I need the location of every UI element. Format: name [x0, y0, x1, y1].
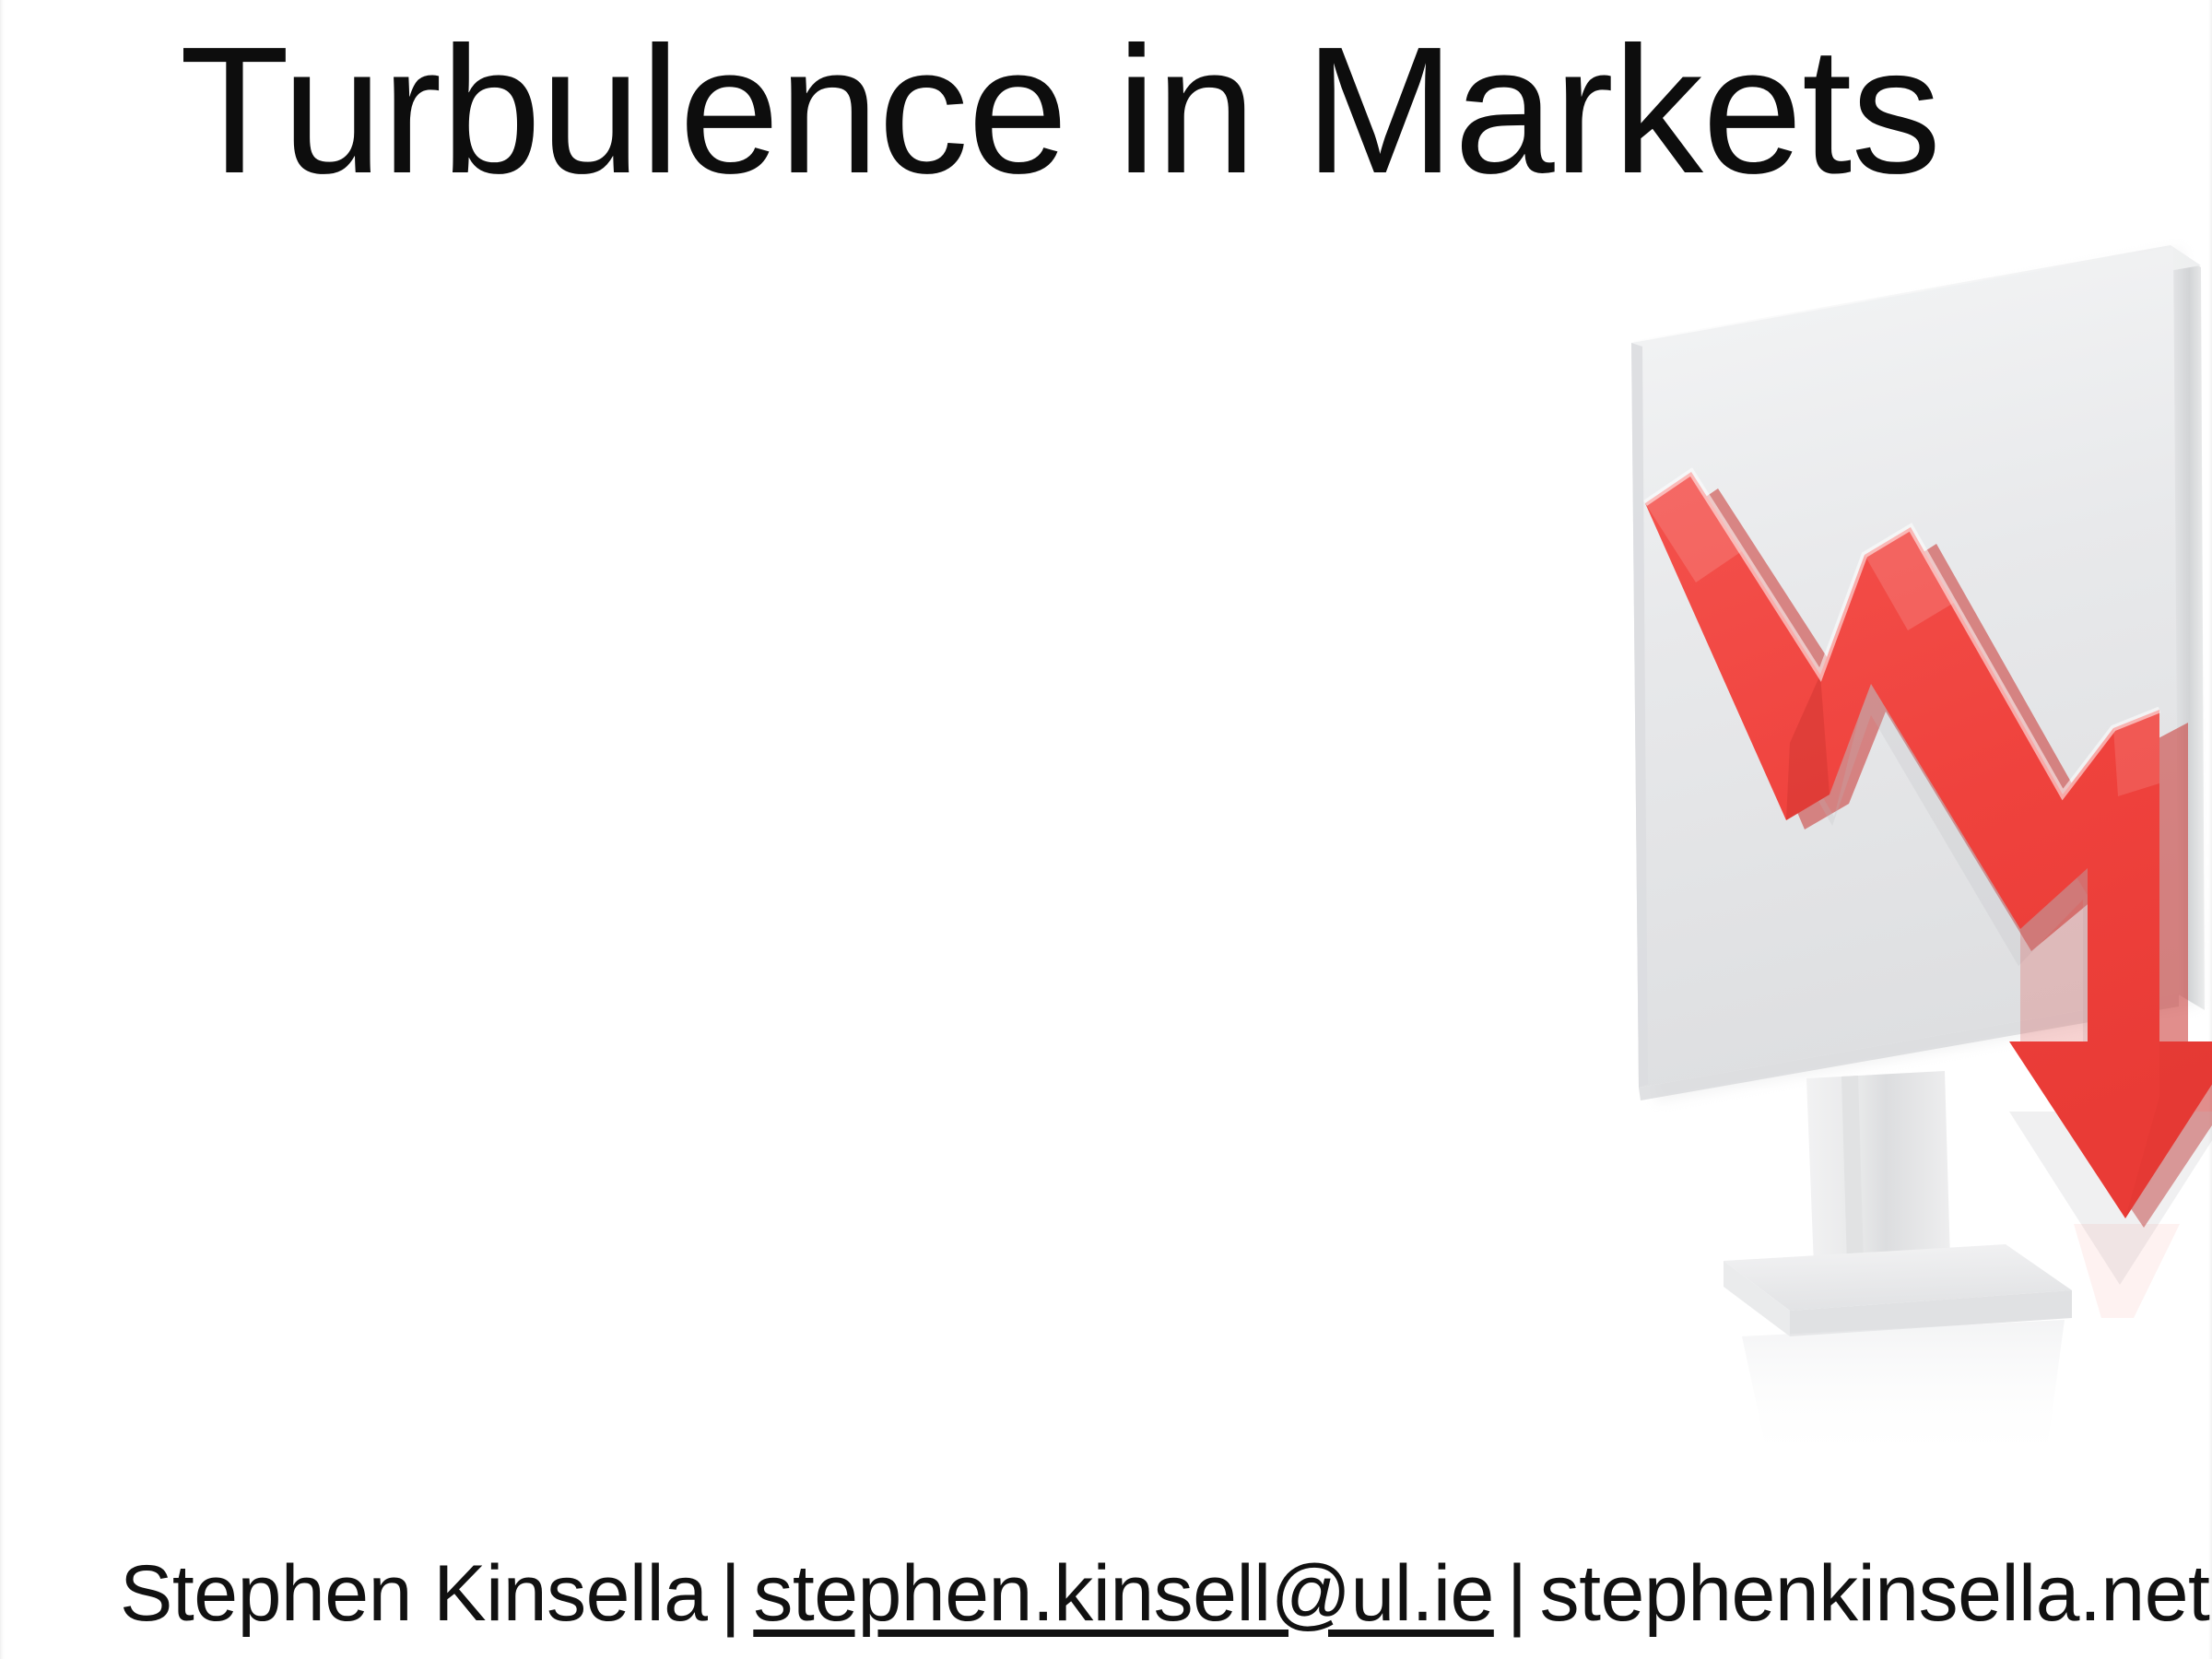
footer-email-link[interactable]: stephen.kinsell@ul.ie	[753, 1549, 1493, 1638]
page-title: Turbulence in Markets	[0, 20, 2120, 201]
footer-separator-1: |	[707, 1549, 753, 1638]
footer-website-link[interactable]: stephenkinsella.net	[1540, 1549, 2210, 1638]
footer-separator-2: |	[1494, 1549, 1540, 1638]
footer-credit-line: Stephen Kinsella|stephen.kinsell@ul.ie|s…	[120, 1552, 2209, 1635]
slide-canvas: Turbulence in Markets	[0, 0, 2212, 1659]
arrow-floor-reflection	[2074, 1224, 2180, 1318]
downward-trend-monitor-graphic	[1041, 230, 2212, 1567]
footer-author: Stephen Kinsella	[120, 1549, 707, 1638]
monitor-floor-reflection	[1742, 1320, 2065, 1465]
monitor-stand-column	[1806, 1071, 1950, 1266]
page-edge-left	[0, 0, 5, 1659]
